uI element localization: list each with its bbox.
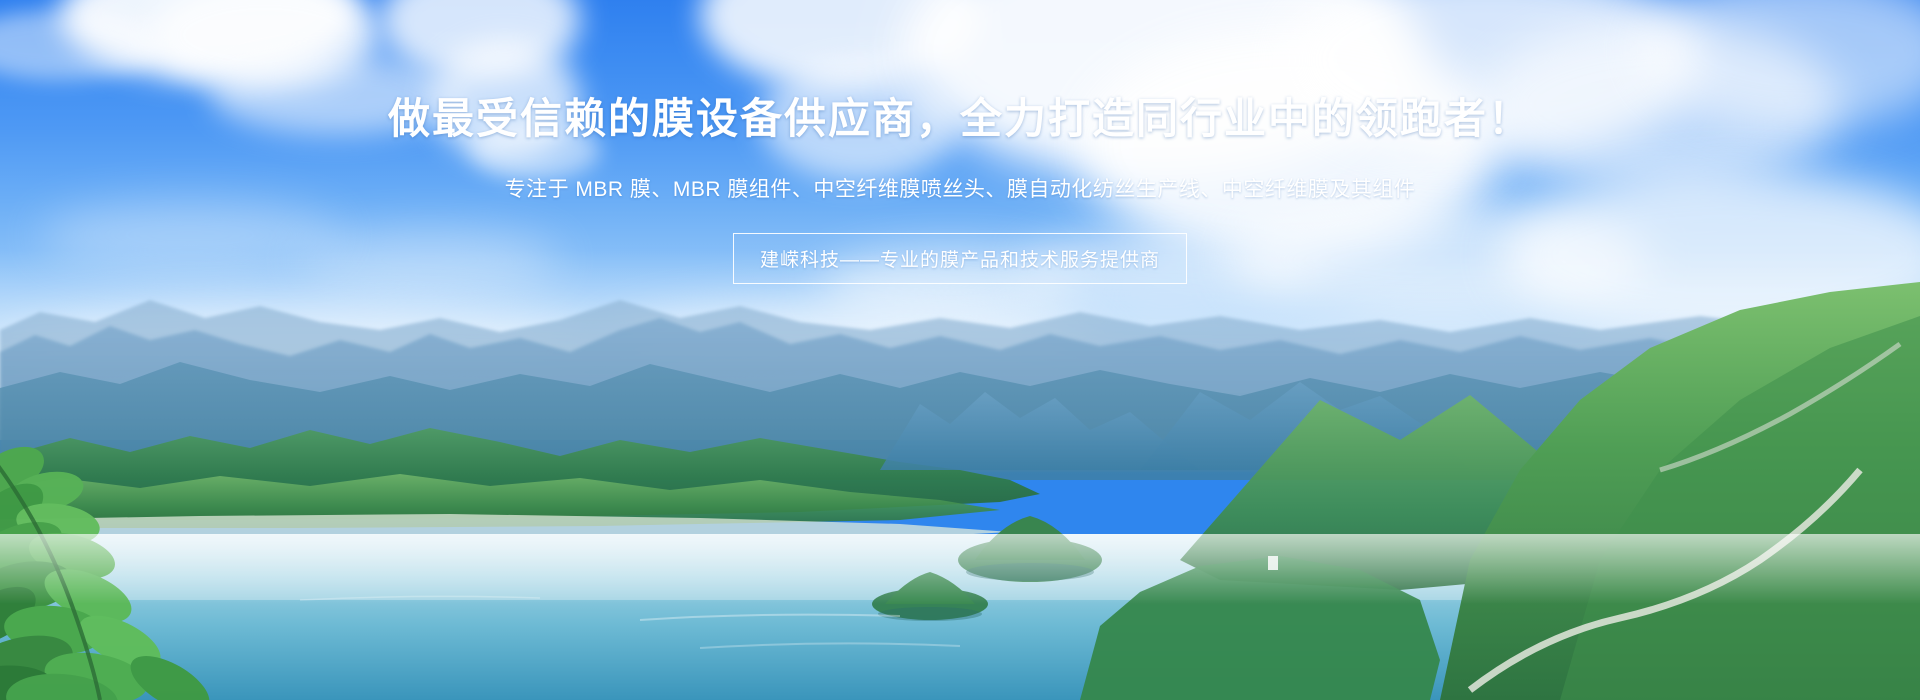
- banner-content: 做最受信赖的膜设备供应商，全力打造同行业中的领跑者！ 专注于 MBR 膜、MBR…: [0, 0, 1920, 700]
- banner-tagline-box: 建嵘科技——专业的膜产品和技术服务提供商: [733, 233, 1187, 284]
- banner-subtitle: 专注于 MBR 膜、MBR 膜组件、中空纤维膜喷丝头、膜自动化纺丝生产线、中空纤…: [505, 173, 1416, 203]
- banner-headline: 做最受信赖的膜设备供应商，全力打造同行业中的领跑者！: [388, 95, 1532, 143]
- hero-banner: 做最受信赖的膜设备供应商，全力打造同行业中的领跑者！ 专注于 MBR 膜、MBR…: [0, 0, 1920, 700]
